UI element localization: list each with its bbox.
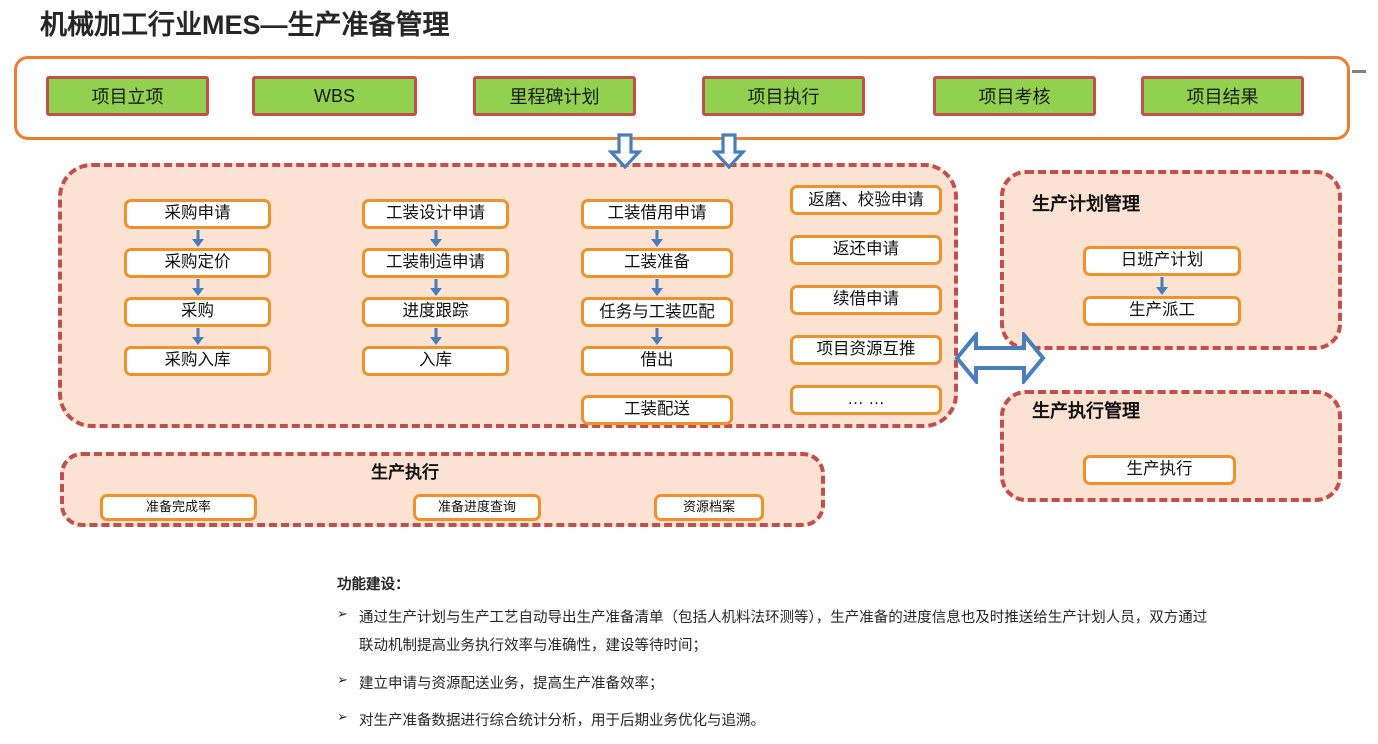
flow-box-label: 资源档案 xyxy=(683,500,735,514)
flow-box-label: 任务与工装匹配 xyxy=(589,303,725,321)
flow-box[interactable]: 准备进度查询 xyxy=(413,494,541,521)
flow-box-label: 采购 xyxy=(181,303,214,321)
flow-box[interactable]: 准备完成率 xyxy=(100,494,257,521)
right-panel-title: 生产计划管理 xyxy=(1032,190,1140,216)
note-item: ➢建立申请与资源配送业务，提高生产准备效率； xyxy=(337,670,1217,698)
notes-section: 功能建设： ➢通过生产计划与生产工艺自动导出生产准备清单（包括人机料法环测等），… xyxy=(337,573,1217,744)
flow-box-label: 返磨、校验申请 xyxy=(798,191,934,209)
note-item-text: 通过生产计划与生产工艺自动导出生产准备清单（包括人机料法环测等），生产准备的进度… xyxy=(359,604,1217,661)
phase-chip[interactable]: 里程碑计划 xyxy=(473,76,636,116)
flow-arrow-down-icon xyxy=(429,328,443,345)
flow-box-label: 工装借用申请 xyxy=(608,205,707,223)
notes-heading: 功能建设： xyxy=(337,573,1217,594)
phase-chip[interactable]: 项目执行 xyxy=(702,76,865,116)
flow-box[interactable]: 返还申请 xyxy=(790,235,942,265)
phase-chip-label: 项目结果 xyxy=(1187,83,1259,109)
phase-chip[interactable]: WBS xyxy=(252,76,417,116)
triangle-bullet-icon: ➢ xyxy=(337,604,359,624)
flow-arrow-down-icon xyxy=(191,230,205,247)
flow-box[interactable]: 返磨、校验申请 xyxy=(790,185,942,215)
phase-chip-label: 项目考核 xyxy=(979,83,1051,109)
flow-box-label: 工装准备 xyxy=(624,254,690,272)
flow-box-label: 工装配送 xyxy=(624,401,690,419)
flow-arrow-down-icon xyxy=(650,230,664,247)
flow-box[interactable]: 续借申请 xyxy=(790,285,942,315)
flow-box-label: 采购申请 xyxy=(165,205,231,223)
hollow-arrow-down-icon xyxy=(608,133,642,169)
flow-box[interactable]: 任务与工装匹配 xyxy=(581,297,733,327)
flow-box-label: 工装设计申请 xyxy=(386,205,485,223)
flow-arrow-down-icon xyxy=(1155,277,1169,295)
flow-box-label: … … xyxy=(847,391,885,409)
note-item-text: 对生产准备数据进行综合统计分析，用于后期业务优化与追溯。 xyxy=(359,707,1217,735)
flow-box-label: 续借申请 xyxy=(833,291,899,309)
phase-chip[interactable]: 项目考核 xyxy=(933,76,1096,116)
flow-box-label: 采购定价 xyxy=(165,254,231,272)
flow-box[interactable]: … … xyxy=(790,385,942,415)
flow-box-label: 采购入库 xyxy=(165,352,231,370)
flow-arrow-down-icon xyxy=(650,328,664,345)
phase-chip-label: 项目立项 xyxy=(92,83,164,109)
flow-box-label: 返还申请 xyxy=(833,241,899,259)
flow-box[interactable]: 工装设计申请 xyxy=(362,199,509,229)
flow-box[interactable]: 日班产计划 xyxy=(1083,246,1241,276)
flow-box[interactable]: 生产派工 xyxy=(1083,296,1241,326)
flow-arrow-down-icon xyxy=(429,230,443,247)
hollow-arrow-down-icon xyxy=(712,133,746,169)
flow-box[interactable]: 项目资源互推 xyxy=(790,335,942,365)
flow-box-label: 准备进度查询 xyxy=(438,500,516,514)
flow-box[interactable]: 采购定价 xyxy=(124,248,271,278)
phase-chip-label: 项目执行 xyxy=(748,83,820,109)
flow-box[interactable]: 入库 xyxy=(362,346,509,376)
flow-box-label: 生产执行 xyxy=(1127,461,1193,479)
flow-arrow-down-icon xyxy=(650,279,664,296)
flow-box[interactable]: 进度跟踪 xyxy=(362,297,509,327)
flow-arrow-down-icon xyxy=(191,328,205,345)
flow-box-label: 生产派工 xyxy=(1129,302,1195,320)
right-panel-title: 生产执行管理 xyxy=(1032,397,1140,423)
flow-box-label: 项目资源互推 xyxy=(817,341,916,359)
notes-list: ➢通过生产计划与生产工艺自动导出生产准备清单（包括人机料法环测等），生产准备的进… xyxy=(337,604,1217,735)
note-item-text: 建立申请与资源配送业务，提高生产准备效率； xyxy=(359,670,1217,698)
note-item: ➢对生产准备数据进行综合统计分析，用于后期业务优化与追溯。 xyxy=(337,707,1217,735)
flow-box[interactable]: 工装制造申请 xyxy=(362,248,509,278)
flow-box[interactable]: 采购入库 xyxy=(124,346,271,376)
phase-chip[interactable]: 项目立项 xyxy=(46,76,209,116)
flow-box-label: 进度跟踪 xyxy=(403,303,469,321)
flow-arrow-down-icon xyxy=(191,279,205,296)
triangle-bullet-icon: ➢ xyxy=(337,670,359,690)
triangle-bullet-icon: ➢ xyxy=(337,707,359,727)
flow-box-label: 入库 xyxy=(419,352,452,370)
flow-box[interactable]: 工装准备 xyxy=(581,248,733,278)
phase-chip-label: 里程碑计划 xyxy=(510,83,600,109)
phase-chip[interactable]: 项目结果 xyxy=(1141,76,1304,116)
hollow-arrow-left-right-icon xyxy=(954,332,1046,384)
flow-box[interactable]: 工装借用申请 xyxy=(581,199,733,229)
page-title: 机械加工行业MES—生产准备管理 xyxy=(40,3,450,42)
flow-box[interactable]: 借出 xyxy=(581,346,733,376)
flow-box[interactable]: 采购申请 xyxy=(124,199,271,229)
flow-box[interactable]: 采购 xyxy=(124,297,271,327)
flow-box[interactable]: 生产执行 xyxy=(1083,455,1236,485)
phase-chip-label: WBS xyxy=(314,86,355,107)
flow-box-label: 准备完成率 xyxy=(146,500,211,514)
flow-box-label: 工装制造申请 xyxy=(386,254,485,272)
flow-box[interactable]: 工装配送 xyxy=(581,395,733,425)
production-execution-panel-title: 生产执行 xyxy=(371,458,439,483)
flow-arrow-down-icon xyxy=(429,279,443,296)
flow-box[interactable]: 资源档案 xyxy=(654,494,764,521)
flow-box-label: 借出 xyxy=(641,352,674,370)
flow-box-label: 日班产计划 xyxy=(1121,252,1204,270)
note-item: ➢通过生产计划与生产工艺自动导出生产准备清单（包括人机料法环测等），生产准备的进… xyxy=(337,604,1217,661)
corner-mark xyxy=(1352,70,1366,73)
